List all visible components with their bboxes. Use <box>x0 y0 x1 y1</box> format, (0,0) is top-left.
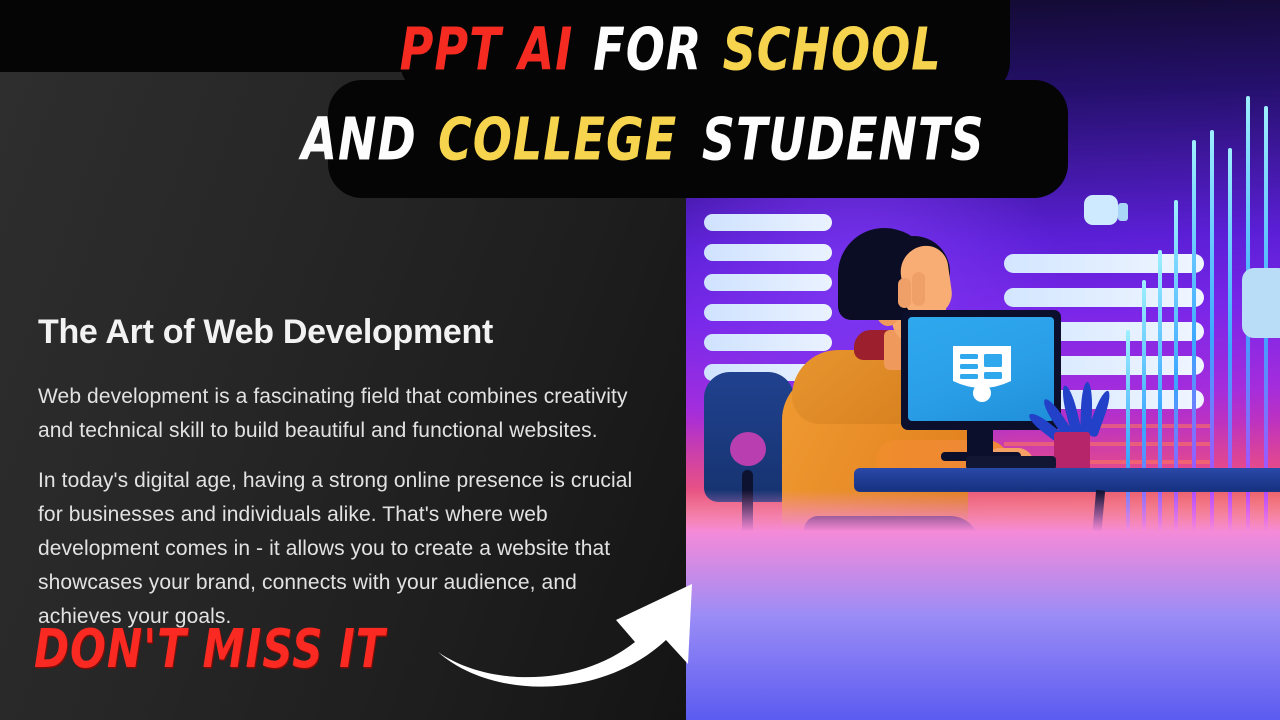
desk-surface <box>854 468 1280 492</box>
window-blind-bar <box>704 274 832 291</box>
slide-paragraph-1: Web development is a fascinating field t… <box>38 380 650 448</box>
window-blind-bar <box>704 304 832 321</box>
headline-line-2: AND COLLEGE STUDENTS <box>0 116 1280 164</box>
monitor-neck <box>967 430 993 454</box>
headline-word: COLLEGE <box>438 111 677 170</box>
ui-widget-tab <box>1118 203 1128 221</box>
ui-widget-square <box>1084 195 1118 225</box>
cta-text: DON'T MISS IT <box>34 618 386 680</box>
window-slat <box>1004 442 1214 446</box>
headline-word: SCHOOL <box>723 21 942 80</box>
poster-canvas: The Art of Web Development Web developme… <box>0 0 1280 720</box>
ui-widget-panel <box>1242 268 1280 338</box>
presentation-slide-icon <box>949 343 1015 403</box>
curved-arrow-icon <box>430 560 720 710</box>
headline-word: PPT AI <box>399 21 573 80</box>
window-blind-bar <box>704 244 832 261</box>
headline-word: STUDENTS <box>702 111 985 170</box>
page-title: The Art of Web Development <box>38 314 638 351</box>
window-blind-bar <box>704 334 832 351</box>
window-blind-bar <box>704 214 832 231</box>
headline-word: FOR <box>593 21 702 80</box>
office-chair-knob <box>730 432 766 466</box>
headline-line-1: PPT AI FOR SCHOOL <box>0 26 1280 74</box>
person-finger <box>912 272 925 306</box>
person-finger <box>898 278 911 308</box>
floor-gradient <box>686 490 1280 720</box>
headline-word: AND <box>302 111 417 170</box>
